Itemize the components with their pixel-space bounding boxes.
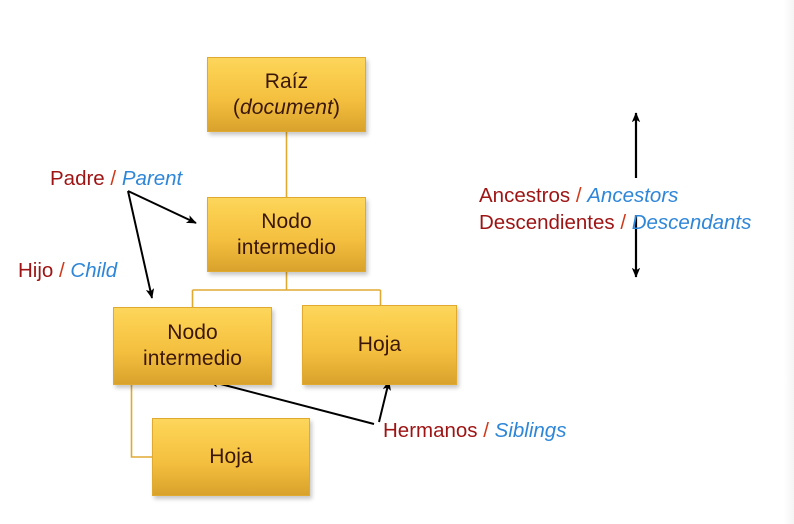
label-siblings-separator: / <box>478 419 495 442</box>
node-leaf-bottom-label: Hoja <box>209 444 253 470</box>
label-descendants-separator: / <box>615 211 632 234</box>
label-parent: Padre / Parent <box>50 165 182 192</box>
label-child-spanish: Hijo <box>18 259 53 282</box>
arrow-layer <box>0 0 794 524</box>
label-siblings-spanish: Hermanos <box>383 419 478 442</box>
label-child-separator: / <box>53 259 70 282</box>
node-root-paren-open: ( <box>233 96 240 119</box>
node-middle-line1: Nodo <box>261 210 312 233</box>
label-ancestors-english: Ancestors <box>587 184 678 207</box>
node-leaf-right[interactable]: Hoja <box>302 305 457 385</box>
diagram-canvas: Raíz (document) Nodo intermedio Nodo int… <box>0 0 794 524</box>
node-root[interactable]: Raíz (document) <box>207 57 366 132</box>
node-leaf-bottom[interactable]: Hoja <box>152 418 310 496</box>
label-parent-spanish: Padre <box>50 167 105 190</box>
node-leaf-right-label: Hoja <box>358 332 402 358</box>
node-root-line2: (document) <box>233 95 340 121</box>
parent-arrow <box>128 191 196 223</box>
label-descendants-english: Descendants <box>632 211 752 234</box>
node-middle[interactable]: Nodo intermedio <box>207 197 366 272</box>
node-intermediate-left[interactable]: Nodo intermedio <box>113 307 272 385</box>
label-descendants: Descendientes / Descendants <box>479 209 751 236</box>
label-ancestors-separator: / <box>570 184 587 207</box>
node-intermediate-left-text: Nodo intermedio <box>143 320 242 371</box>
node-root-line1: Raíz <box>265 70 309 93</box>
label-parent-separator: / <box>105 167 122 190</box>
label-siblings-english: Siblings <box>495 419 567 442</box>
node-middle-text: Nodo intermedio <box>237 209 336 260</box>
label-child: Hijo / Child <box>18 257 117 284</box>
node-intermediate-left-line1: Nodo <box>167 321 218 344</box>
node-intermediate-left-line2: intermedio <box>143 346 242 372</box>
child-arrow <box>128 191 152 298</box>
node-root-paren-close: ) <box>333 96 340 119</box>
label-ancestors: Ancestros / Ancestors <box>479 182 678 209</box>
node-root-text: Raíz (document) <box>233 69 340 120</box>
sibling-arrow-right <box>379 381 389 422</box>
node-root-document: document <box>240 96 333 119</box>
label-child-english: Child <box>70 259 117 282</box>
node-middle-line2: intermedio <box>237 235 336 261</box>
label-parent-english: Parent <box>122 167 182 190</box>
label-descendants-spanish: Descendientes <box>479 211 615 234</box>
label-ancestors-spanish: Ancestros <box>479 184 570 207</box>
label-siblings: Hermanos / Siblings <box>383 417 566 444</box>
